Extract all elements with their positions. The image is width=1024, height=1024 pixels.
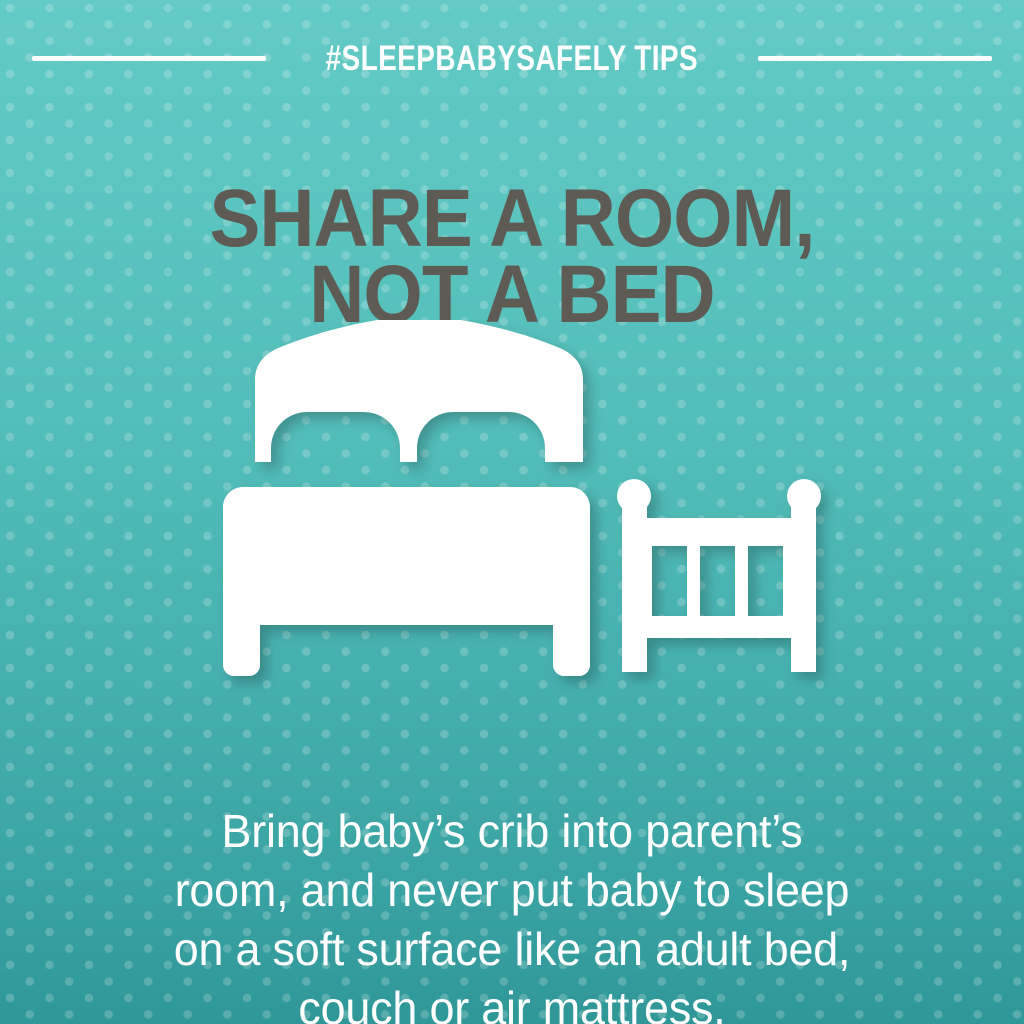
- page-title-line-1: SHARE A ROOM,: [36, 181, 988, 257]
- body-copy: Bring baby’s crib into parent’s room, an…: [112, 802, 912, 1024]
- eyebrow-label: #SLEEPBABYSAFELY TIPS: [326, 41, 699, 76]
- bed-group: [223, 320, 590, 676]
- bed-headboard: [255, 320, 583, 462]
- crib-left-leg: [622, 636, 647, 672]
- eyebrow-rule-left: [32, 56, 266, 61]
- bed-left-leg: [223, 620, 260, 676]
- eyebrow-rule-right: [758, 56, 992, 61]
- bed-right-leg: [553, 620, 590, 676]
- header-eyebrow: #SLEEPBABYSAFELY TIPS: [0, 38, 1024, 78]
- bed-base: [223, 487, 590, 642]
- body-copy-line-3: on a soft surface like an adult bed,: [126, 920, 898, 979]
- page-title: SHARE A ROOM, NOT A BED: [0, 181, 1024, 334]
- crib-group: [617, 479, 821, 672]
- crib-right-leg: [791, 636, 816, 672]
- body-copy-line-4: couch or air mattress.: [126, 979, 898, 1024]
- body-copy-line-2: room, and never put baby to sleep: [126, 861, 898, 920]
- infographic-poster: #SLEEPBABYSAFELY TIPS SHARE A ROOM, NOT …: [0, 0, 1024, 1024]
- crib-body: [622, 518, 816, 656]
- body-copy-line-1: Bring baby’s crib into parent’s: [126, 802, 898, 861]
- illustration-bed-and-crib: [0, 320, 1024, 720]
